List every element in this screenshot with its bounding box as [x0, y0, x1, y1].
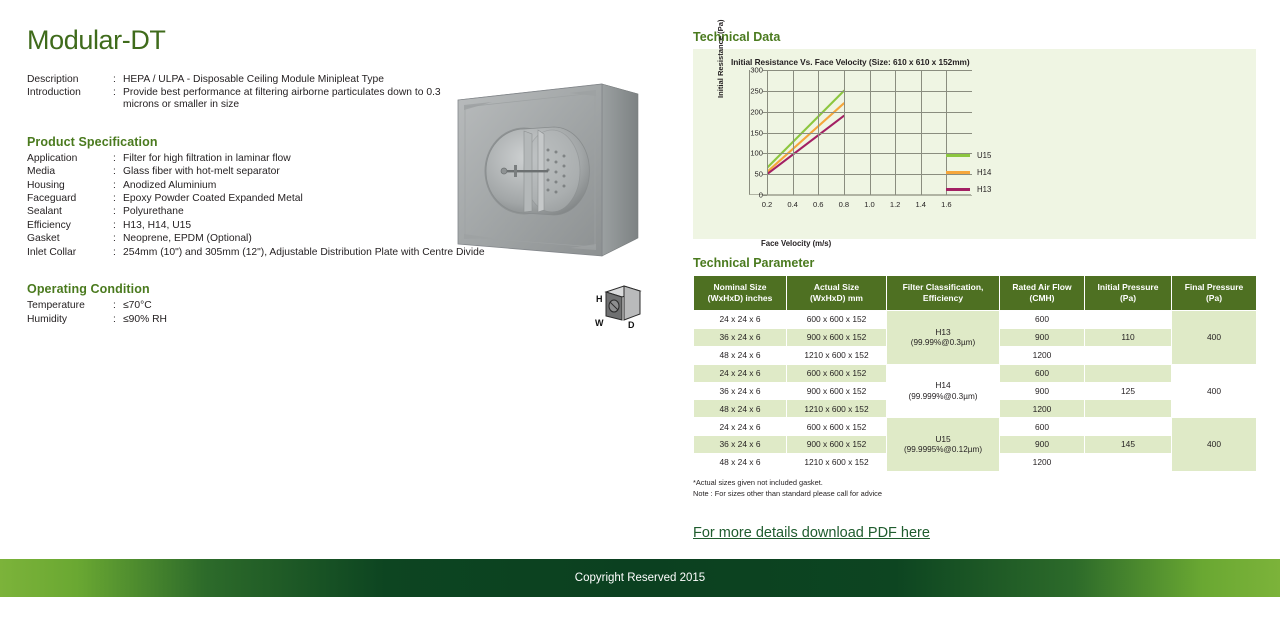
dim-label-depth: D	[628, 320, 635, 330]
spec-row: Housing : Anodized Aluminium	[27, 180, 485, 193]
operating-row: Temperature : ≤70°C	[27, 300, 167, 313]
cell-final-pressure: 400	[1172, 418, 1257, 472]
product-info-table: Description : HEPA / ULPA - Disposable C…	[27, 74, 453, 113]
info-label: Introduction	[27, 87, 113, 113]
chart-line-u15	[767, 91, 844, 168]
spec-row: Sealant : Polyurethane	[27, 206, 485, 219]
operating-condition-heading: Operating Condition	[27, 282, 667, 296]
filter-module-image	[452, 78, 640, 268]
spec-colon: :	[113, 153, 123, 166]
chart-line-h13	[767, 116, 844, 174]
chart-x-axis-label: Face Velocity (m/s)	[761, 239, 831, 248]
chart-gridline-vertical	[870, 70, 871, 195]
operating-colon: :	[113, 300, 123, 313]
spec-row: Efficiency : H13, H14, U15	[27, 220, 485, 233]
spec-label: Efficiency	[27, 220, 113, 233]
legend-item-u15: U15	[946, 147, 991, 164]
spec-colon: :	[113, 233, 123, 246]
legend-item-h14: H14	[946, 164, 991, 181]
legend-label-u15: U15	[977, 151, 991, 160]
spec-label: Sealant	[27, 206, 113, 219]
cell-filter-classification: H13(99.99%@0.3µm)	[887, 311, 1000, 365]
box-dimension-icon: H W D	[592, 282, 648, 330]
info-label: Description	[27, 74, 113, 87]
cell-nominal-size: 36 x 24 x 6	[694, 436, 787, 454]
header-line2: (WxHxD) inches	[708, 293, 773, 303]
chart-gridline-horizontal	[767, 195, 972, 196]
cell-initial-pressure: 145	[1085, 436, 1172, 454]
legend-item-h13: H13	[946, 181, 991, 198]
spec-label: Application	[27, 153, 113, 166]
chart-gridline-vertical	[818, 70, 819, 195]
product-page: Modular-DT Description : HEPA / ULPA - D…	[0, 0, 1280, 624]
legend-label-h14: H14	[977, 168, 991, 177]
table-footnotes: *Actual sizes given not included gasket.…	[693, 478, 1258, 499]
copyright-text: Copyright Reserved 2015	[575, 572, 705, 584]
spec-label: Faceguard	[27, 193, 113, 206]
spec-colon: :	[113, 206, 123, 219]
chart-x-tick-label: 0.2	[762, 200, 773, 209]
chart-grid-and-series: 0501001502002503000.20.40.60.81.01.21.41…	[767, 70, 972, 195]
cell-rated-air-flow: 1200	[1000, 400, 1085, 418]
page-footer: Copyright Reserved 2015	[0, 559, 1280, 597]
info-row-introduction: Introduction : Provide best performance …	[27, 87, 453, 113]
column-header-initial-pressure: Initial Pressure (Pa)	[1085, 276, 1172, 311]
cell-nominal-size: 24 x 24 x 6	[694, 311, 787, 329]
header-line2: (Pa)	[1120, 293, 1136, 303]
column-header-actual-size: Actual Size (WxHxD) mm	[787, 276, 887, 311]
operating-colon: :	[113, 314, 123, 327]
cell-initial-pressure-empty	[1085, 346, 1172, 364]
cell-rated-air-flow: 900	[1000, 382, 1085, 400]
spec-colon: :	[113, 166, 123, 179]
cell-actual-size: 600 x 600 x 152	[787, 311, 887, 329]
header-line2: (Pa)	[1206, 293, 1222, 303]
spec-label: Media	[27, 166, 113, 179]
chart-legend: U15 H14 H13	[946, 147, 991, 198]
table-row: 24 x 24 x 6600 x 600 x 152H13(99.99%@0.3…	[694, 311, 1257, 329]
chart-x-tick-label: 1.4	[915, 200, 926, 209]
cell-nominal-size: 48 x 24 x 6	[694, 400, 787, 418]
spec-value: Epoxy Powder Coated Expanded Metal	[123, 193, 485, 206]
table-body: 24 x 24 x 6600 x 600 x 152H13(99.99%@0.3…	[694, 311, 1257, 472]
spec-row: Inlet Collar : 254mm (10") and 305mm (12…	[27, 247, 485, 260]
header-line2: Efficiency	[923, 293, 963, 303]
chart-gridline-vertical	[895, 70, 896, 195]
cell-initial-pressure-empty	[1085, 454, 1172, 472]
cell-actual-size: 600 x 600 x 152	[787, 364, 887, 382]
spec-value: Neoprene, EPDM (Optional)	[123, 233, 485, 246]
spec-label: Housing	[27, 180, 113, 193]
technical-data-heading: Technical Data	[693, 30, 1258, 44]
cell-nominal-size: 48 x 24 x 6	[694, 454, 787, 472]
cell-filter-classification: H14(99.999%@0.3µm)	[887, 364, 1000, 418]
spec-colon: :	[113, 193, 123, 206]
spec-value: H13, H14, U15	[123, 220, 485, 233]
cell-actual-size: 600 x 600 x 152	[787, 418, 887, 436]
spec-value: Anodized Aluminium	[123, 180, 485, 193]
technical-parameter-heading: Technical Parameter	[693, 256, 1258, 270]
cell-initial-pressure-empty	[1085, 311, 1172, 329]
chart-x-tick-label: 1.2	[890, 200, 901, 209]
header-line2: (CMH)	[1029, 293, 1054, 303]
legend-swatch-u15	[946, 154, 970, 156]
legend-label-h13: H13	[977, 185, 991, 194]
cell-rated-air-flow: 600	[1000, 364, 1085, 382]
header-line1: Final Pressure	[1185, 282, 1244, 292]
table-row: 24 x 24 x 6600 x 600 x 152H14(99.999%@0.…	[694, 364, 1257, 382]
column-header-nominal-size: Nominal Size (WxHxD) inches	[694, 276, 787, 311]
spec-value: 254mm (10") and 305mm (12"), Adjustable …	[123, 247, 485, 260]
cell-actual-size: 900 x 600 x 152	[787, 382, 887, 400]
cell-initial-pressure: 125	[1085, 382, 1172, 400]
operating-condition-table: Temperature : ≤70°C Humidity : ≤90% RH	[27, 300, 167, 327]
cell-actual-size: 900 x 600 x 152	[787, 436, 887, 454]
chart-y-tick-label: 250	[750, 86, 763, 95]
chart-x-tick-label: 0.6	[813, 200, 824, 209]
operating-label: Humidity	[27, 314, 113, 327]
chart-panel: Initial Resistance Vs. Face Velocity (Si…	[693, 49, 1256, 239]
cell-initial-pressure-empty	[1085, 364, 1172, 382]
footnote-line: *Actual sizes given not included gasket.	[693, 478, 1258, 489]
cell-actual-size: 900 x 600 x 152	[787, 328, 887, 346]
spec-colon: :	[113, 180, 123, 193]
info-value: Provide best performance at filtering ai…	[123, 87, 453, 113]
chart-plot-area: Initial Resistance (Pa) 0501001502002503…	[749, 70, 971, 195]
chart-y-tick-label: 300	[750, 66, 763, 75]
spec-row: Gasket : Neoprene, EPDM (Optional)	[27, 233, 485, 246]
cell-filter-classification: U15(99.9995%@0.12µm)	[887, 418, 1000, 472]
chart-y-tick-label: 200	[750, 107, 763, 116]
chart-y-tick-label: 50	[755, 170, 763, 179]
chart-y-tick-label: 100	[750, 149, 763, 158]
spec-colon: :	[113, 247, 123, 260]
operating-value: ≤90% RH	[123, 314, 167, 327]
legend-swatch-h13	[946, 188, 970, 190]
cell-actual-size: 1210 x 600 x 152	[787, 346, 887, 364]
cell-initial-pressure-empty	[1085, 418, 1172, 436]
cell-rated-air-flow: 900	[1000, 328, 1085, 346]
spec-value: Glass fiber with hot-melt separator	[123, 166, 485, 179]
chart-gridline-top	[767, 70, 972, 71]
chart-gridline-vertical	[793, 70, 794, 195]
header-line1: Initial Pressure	[1098, 282, 1159, 292]
chart-x-tick-label: 1.6	[941, 200, 952, 209]
column-header-rated-air-flow: Rated Air Flow (CMH)	[1000, 276, 1085, 311]
cell-nominal-size: 48 x 24 x 6	[694, 346, 787, 364]
chart-y-axis-label: Initial Resistance (Pa)	[716, 20, 725, 99]
spec-row: Application : Filter for high filtration…	[27, 153, 485, 166]
chart-x-tick-label: 0.4	[787, 200, 798, 209]
operating-value: ≤70°C	[123, 300, 167, 313]
page-title: Modular-DT	[27, 26, 667, 56]
spec-value: Polyurethane	[123, 206, 485, 219]
info-row-description: Description : HEPA / ULPA - Disposable C…	[27, 74, 453, 87]
chart-line-h14	[767, 103, 844, 172]
dim-label-width: W	[595, 318, 604, 328]
cell-rated-air-flow: 1200	[1000, 454, 1085, 472]
cell-final-pressure: 400	[1172, 364, 1257, 418]
cell-rated-air-flow: 600	[1000, 418, 1085, 436]
spec-row: Faceguard : Epoxy Powder Coated Expanded…	[27, 193, 485, 206]
chart-x-tick-label: 0.8	[839, 200, 850, 209]
spec-label: Inlet Collar	[27, 247, 113, 260]
table-row: 24 x 24 x 6600 x 600 x 152U15(99.9995%@0…	[694, 418, 1257, 436]
cell-rated-air-flow: 600	[1000, 311, 1085, 329]
chart-y-tick-label: 150	[750, 128, 763, 137]
spec-value: Filter for high filtration in laminar fl…	[123, 153, 485, 166]
dimension-diagram: H W D	[592, 282, 648, 330]
cell-nominal-size: 24 x 24 x 6	[694, 418, 787, 436]
cell-actual-size: 1210 x 600 x 152	[787, 454, 887, 472]
spec-colon: :	[113, 220, 123, 233]
dim-label-height: H	[596, 294, 603, 304]
product-specification-table: Application : Filter for high filtration…	[27, 153, 485, 261]
cell-nominal-size: 36 x 24 x 6	[694, 382, 787, 400]
cell-final-pressure: 400	[1172, 311, 1257, 365]
chart-gridline-vertical	[767, 70, 768, 195]
spec-label: Gasket	[27, 233, 113, 246]
right-column: Technical Data Initial Resistance Vs. Fa…	[693, 30, 1258, 542]
header-line2: (WxHxD) mm	[810, 293, 863, 303]
cell-initial-pressure: 110	[1085, 328, 1172, 346]
technical-parameter-table: Nominal Size (WxHxD) inches Actual Size …	[693, 275, 1257, 472]
info-colon: :	[113, 87, 123, 113]
cell-rated-air-flow: 900	[1000, 436, 1085, 454]
chart-gridline-vertical	[921, 70, 922, 195]
header-line1: Filter Classification,	[903, 282, 984, 292]
operating-label: Temperature	[27, 300, 113, 313]
chart-gridline-vertical	[844, 70, 845, 195]
info-value: HEPA / ULPA - Disposable Ceiling Module …	[123, 74, 453, 87]
chart-y-tick-mark	[763, 195, 767, 196]
column-header-final-pressure: Final Pressure (Pa)	[1172, 276, 1257, 311]
product-photo	[452, 78, 640, 268]
footnote-line: Note : For sizes other than standard ple…	[693, 489, 1258, 500]
column-header-filter-classification: Filter Classification, Efficiency	[887, 276, 1000, 311]
chart-title: Initial Resistance Vs. Face Velocity (Si…	[731, 57, 970, 67]
download-pdf-link[interactable]: For more details download PDF here	[693, 525, 930, 541]
header-line1: Nominal Size	[714, 282, 767, 292]
table-header-row: Nominal Size (WxHxD) inches Actual Size …	[694, 276, 1257, 311]
cell-initial-pressure-empty	[1085, 400, 1172, 418]
operating-row: Humidity : ≤90% RH	[27, 314, 167, 327]
cell-actual-size: 1210 x 600 x 152	[787, 400, 887, 418]
cell-rated-air-flow: 1200	[1000, 346, 1085, 364]
header-line1: Rated Air Flow	[1012, 282, 1071, 292]
legend-swatch-h14	[946, 171, 970, 173]
spec-row: Media : Glass fiber with hot-melt separa…	[27, 166, 485, 179]
header-line1: Actual Size	[814, 282, 859, 292]
info-colon: :	[113, 74, 123, 87]
cell-nominal-size: 36 x 24 x 6	[694, 328, 787, 346]
cell-nominal-size: 24 x 24 x 6	[694, 364, 787, 382]
chart-x-tick-label: 1.0	[864, 200, 875, 209]
